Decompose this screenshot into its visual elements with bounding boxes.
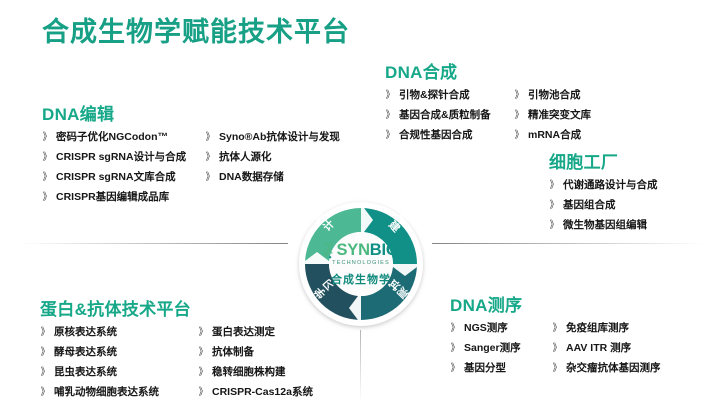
chevron-icon: 》 [199,368,208,378]
list-item[interactable]: 》 CRISPR-Cas12a系统 [198,387,313,398]
chevron-icon: 》 [43,153,52,163]
chevron-icon: 》 [386,111,395,121]
chevron-icon: 》 [43,133,52,143]
chevron-icon: 》 [199,328,208,338]
list-item[interactable]: 》 抗体制备 [198,347,313,358]
chevron-icon: 》 [550,201,559,211]
chevron-icon: 》 [451,324,460,334]
chevron-icon: 》 [553,364,562,374]
list-item-label: 基因分型 [464,363,506,374]
slide-canvas: 合成生物学赋能技术平台 DNA编辑 》 密码子优化NGCodon™ 》 CRIS… [0,0,721,404]
list-item[interactable]: 》 基因组合成 [549,200,658,211]
list-item-label: 引物&探针合成 [399,90,470,101]
chevron-icon: 》 [515,131,524,141]
chevron-icon: 》 [515,111,524,121]
list-item-label: CRISPR sgRNA文库合成 [56,172,176,183]
cycle-inner-disc [329,232,393,296]
list-item-label: 合规性基因合成 [399,130,473,141]
list-item[interactable]: 》 稳转细胞株构建 [198,367,313,378]
divider-right [432,243,704,244]
list-item[interactable]: 》 Syno®Ab抗体设计与发现 [205,132,340,143]
list-item[interactable]: 》 微生物基因组编辑 [549,220,658,231]
list-item[interactable]: 》 mRNA合成 [514,130,591,141]
chevron-icon: 》 [41,328,50,338]
list-item-label: 基因组合成 [563,200,616,211]
chevron-icon: 》 [199,388,208,398]
section-dna-synthesis: DNA合成 》 引物&探针合成 》 基因合成&质粒制备 》 合规性基因合成 》 [385,58,591,150]
section-title-dna-synthesis: DNA合成 [385,58,591,83]
chevron-icon: 》 [41,348,50,358]
list-item-label: 密码子优化NGCodon™ [56,132,168,143]
list-item-label: NGS测序 [464,323,508,334]
list-item-label: 精准突变文库 [528,110,591,121]
chevron-icon: 》 [206,153,215,163]
chevron-icon: 》 [553,344,562,354]
list-item-label: 哺乳动物细胞表达系统 [54,387,159,398]
list-item[interactable]: 》 CRISPR sgRNA设计与合成 [42,152,205,163]
list-item-label: 杂交瘤抗体基因测序 [566,363,661,374]
dna-synthesis-column-2: 》 引物池合成 》 精准突变文库 》 mRNA合成 [514,90,591,150]
chevron-icon: 》 [386,91,395,101]
dna-synthesis-column-1: 》 引物&探针合成 》 基因合成&质粒制备 》 合规性基因合成 [385,90,514,150]
list-item[interactable]: 》 哺乳动物细胞表达系统 [40,387,198,398]
chevron-icon: 》 [199,348,208,358]
list-item-label: 免疫组库测序 [566,323,629,334]
section-title-dna-sequencing: DNA测序 [450,291,661,316]
chevron-icon: 》 [206,133,215,143]
list-item[interactable]: 》 Sanger测序 [450,343,552,354]
list-item-label: CRISPR-Cas12a系统 [212,387,313,398]
protein-antibody-column-1: 》 原核表达系统 》 酵母表达系统 》 昆虫表达系统 》 哺乳动物细胞表达系统 [40,327,198,407]
list-item-label: 抗体人源化 [219,152,272,163]
list-item[interactable]: 》 抗体人源化 [205,152,340,163]
chevron-icon: 》 [553,324,562,334]
list-item-label: CRISPR基因编辑成品库 [56,192,169,203]
list-item[interactable]: 》 昆虫表达系统 [40,367,198,378]
list-item-label: 原核表达系统 [54,327,117,338]
cell-factory-column-1: 》 代谢通路设计与合成 》 基因组合成 》 微生物基因组编辑 [549,180,658,240]
list-item[interactable]: 》 CRISPR基因编辑成品库 [42,192,205,203]
list-item-label: 基因合成&质粒制备 [399,110,491,121]
list-item-label: CRISPR sgRNA设计与合成 [56,152,186,163]
list-item-label: AAV ITR 测序 [566,343,631,354]
dna-editing-column-1: 》 密码子优化NGCodon™ 》 CRISPR sgRNA设计与合成 》 CR… [42,132,205,212]
list-item-label: DNA数据存储 [219,172,284,183]
list-item-label: mRNA合成 [528,130,581,141]
list-item-label: 稳转细胞株构建 [212,367,286,378]
chevron-icon: 》 [451,344,460,354]
list-item[interactable]: 》 原核表达系统 [40,327,198,338]
section-dna-sequencing: DNA测序 》 NGS测序 》 Sanger测序 》 基因分型 》 [450,291,661,383]
list-item[interactable]: 》 CRISPR sgRNA文库合成 [42,172,205,183]
list-item[interactable]: 》 精准突变文库 [514,110,591,121]
chevron-icon: 》 [41,388,50,398]
dna-sequencing-column-2: 》 免疫组库测序 》 AAV ITR 测序 》 杂交瘤抗体基因测序 [552,323,661,383]
chevron-icon: 》 [43,193,52,203]
section-title-cell-factory: 细胞工厂 [549,148,658,173]
chevron-icon: 》 [386,131,395,141]
divider-left [20,243,288,244]
chevron-icon: 》 [451,364,460,374]
list-item[interactable]: 》 引物&探针合成 [385,90,514,101]
chevron-icon: 》 [41,368,50,378]
list-item-label: 抗体制备 [212,347,254,358]
chevron-icon: 》 [550,221,559,231]
list-item-label: 蛋白表达测定 [212,327,275,338]
cycle-ring-svg [291,194,431,334]
protein-antibody-column-2: 》 蛋白表达测定 》 抗体制备 》 稳转细胞株构建 》 CRISPR-Cas12… [198,327,313,407]
list-item[interactable]: 》 DNA数据存储 [205,172,340,183]
list-item[interactable]: 》 合规性基因合成 [385,130,514,141]
list-item[interactable]: 》 酵母表达系统 [40,347,198,358]
chevron-icon: 》 [43,173,52,183]
list-item[interactable]: 》 代谢通路设计与合成 [549,180,658,191]
chevron-icon: 》 [206,173,215,183]
list-item[interactable]: 》 基因分型 [450,363,552,374]
chevron-icon: 》 [550,181,559,191]
list-item[interactable]: 》 免疫组库测序 [552,323,661,334]
list-item-label: Syno®Ab抗体设计与发现 [219,132,340,143]
list-item[interactable]: 》 基因合成&质粒制备 [385,110,514,121]
list-item-label: 酵母表达系统 [54,347,117,358]
list-item[interactable]: 》 AAV ITR 测序 [552,343,661,354]
list-item-label: 昆虫表达系统 [54,367,117,378]
list-item-label: 代谢通路设计与合成 [563,180,658,191]
section-title-protein-antibody: 蛋白&抗体技术平台 [40,295,313,320]
list-item[interactable]: 》 密码子优化NGCodon™ [42,132,205,143]
divider-bottom-vertical [360,330,361,402]
list-item-label: Sanger测序 [464,343,521,354]
section-title-dna-editing: DNA编辑 [42,100,340,125]
section-protein-antibody: 蛋白&抗体技术平台 》 原核表达系统 》 酵母表达系统 》 昆虫表达系统 》 哺… [40,295,313,407]
dna-sequencing-column-1: 》 NGS测序 》 Sanger测序 》 基因分型 [450,323,552,383]
section-cell-factory: 细胞工厂 》 代谢通路设计与合成 》 基因组合成 》 微生物基因组编辑 [549,148,658,240]
dbtl-cycle-diagram: 设计 构建 测试 学习 SYNBIO TECHNOLOGIES 合成生物学 [291,194,431,334]
list-item[interactable]: 》 引物池合成 [514,90,591,101]
page-title: 合成生物学赋能技术平台 [42,10,350,49]
list-item-label: 引物池合成 [528,90,581,101]
chevron-icon: 》 [515,91,524,101]
list-item-label: 微生物基因组编辑 [563,220,647,231]
list-item[interactable]: 》 NGS测序 [450,323,552,334]
list-item[interactable]: 》 杂交瘤抗体基因测序 [552,363,661,374]
